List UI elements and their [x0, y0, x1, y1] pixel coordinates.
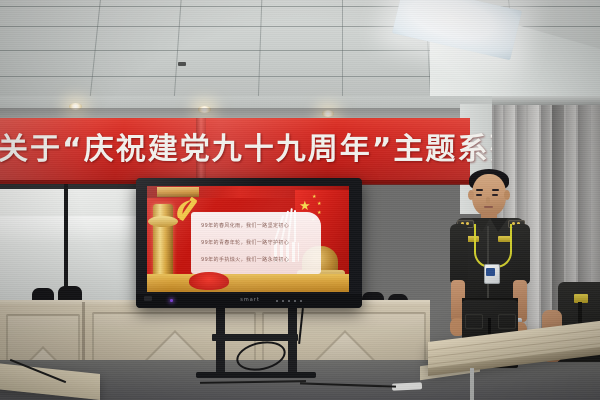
- trouser-pocket-right: [498, 314, 516, 329]
- banner-text: 司关于“庆祝建党九十九周年”主题系列活动: [0, 128, 476, 172]
- stand-base: [196, 372, 316, 378]
- ceiling-vent: [178, 62, 186, 66]
- stand-shelf: [212, 334, 298, 341]
- person-brow-left: [476, 189, 483, 191]
- id-badge-photo: [486, 268, 495, 276]
- display-control-4[interactable]: [294, 300, 296, 302]
- foreground-table-leg: [470, 368, 474, 400]
- person-brow-right: [492, 189, 499, 191]
- display-port: [144, 296, 152, 301]
- person-mouth: [484, 206, 493, 208]
- person-ear-left: [468, 190, 474, 200]
- person-arm-right: [512, 224, 530, 284]
- person-ear-right: [504, 190, 510, 200]
- person-nose: [486, 197, 490, 204]
- power-led-icon: [170, 299, 173, 302]
- whiteboard-top-trim: [0, 184, 146, 189]
- curtain-rail: [492, 96, 600, 105]
- stand-post-left: [216, 306, 225, 376]
- display-brand-logo: smart: [239, 297, 261, 304]
- display-control-5[interactable]: [300, 300, 302, 302]
- person-eye-right: [492, 194, 498, 196]
- trouser-pocket-left: [465, 314, 483, 329]
- display-control-3[interactable]: [288, 300, 290, 302]
- whiteboard-glare: [0, 216, 146, 244]
- stand-post-right: [288, 306, 297, 376]
- lanyard: [474, 224, 512, 268]
- display-control-2[interactable]: [282, 300, 284, 302]
- person-eye-left: [476, 194, 482, 196]
- display-bezel-highlight: [136, 178, 362, 308]
- room-photo-scene: 司关于“庆祝建党九十九周年”主题系列活动: [0, 0, 600, 400]
- display-control-1[interactable]: [276, 300, 278, 302]
- person-arm-left: [450, 224, 468, 284]
